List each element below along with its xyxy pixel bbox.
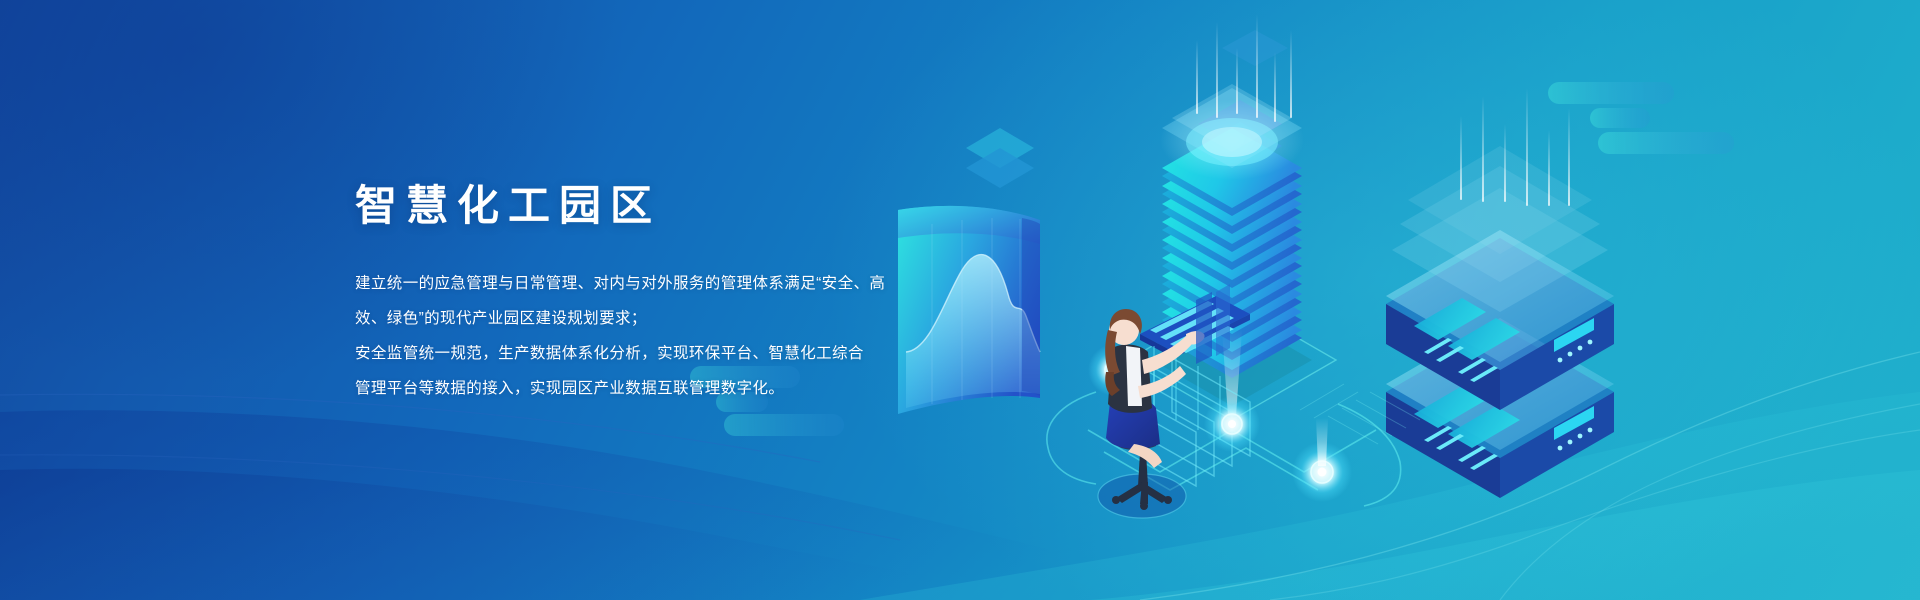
glow-node [1204, 396, 1260, 452]
server-rack-lower [1386, 318, 1614, 498]
hero-banner: 智慧化工园区 建立统一的应急管理与日常管理、对内与对外服务的管理体系满足“安全、… [0, 0, 1920, 600]
rack-glass-plates [1392, 146, 1608, 312]
floating-diamond-stack [966, 128, 1034, 188]
seated-operator [1098, 309, 1205, 518]
description-line-4: 管理平台等数据的接入，实现园区产业数据互联管理数字化。 [355, 371, 1075, 406]
floating-diamond-stack [1222, 30, 1288, 66]
page-title: 智慧化工园区 [355, 184, 1075, 228]
glow-node [1292, 418, 1352, 502]
glow-node [1088, 344, 1140, 396]
office-chair [1112, 452, 1172, 510]
riser-lines [1154, 346, 1220, 440]
data-rain [1196, 14, 1292, 122]
description-line-3: 安全监管统一规范，生产数据体系化分析，实现环保平台、智慧化工综合 [355, 336, 1075, 371]
keyboard [1140, 296, 1250, 358]
perspective-lines [1118, 358, 1250, 486]
server-tower [1128, 14, 1336, 420]
description-line-2: 效、绿色”的现代产业园区建设规划要求； [355, 301, 1075, 336]
description-line-1: 建立统一的应急管理与日常管理、对内与对外服务的管理体系满足“安全、高 [355, 266, 1075, 301]
server-rack-upper [1386, 230, 1614, 410]
data-rain [1460, 88, 1570, 206]
ground-grid [1300, 384, 1420, 444]
tower-disc-stack [1162, 128, 1302, 378]
rack-indicator-panel [1554, 318, 1594, 362]
floating-diamond-stack [1198, 100, 1282, 192]
data-link-path [1047, 392, 1401, 506]
hero-copy: 智慧化工园区 建立统一的应急管理与日常管理、对内与对外服务的管理体系满足“安全、… [355, 184, 1075, 406]
cloud-shape [1548, 82, 1734, 154]
accent-shapes [1196, 284, 1230, 364]
hero-description: 建立统一的应急管理与日常管理、对内与对外服务的管理体系满足“安全、高 效、绿色”… [355, 266, 1075, 406]
rack-indicator-panel [1554, 406, 1594, 450]
